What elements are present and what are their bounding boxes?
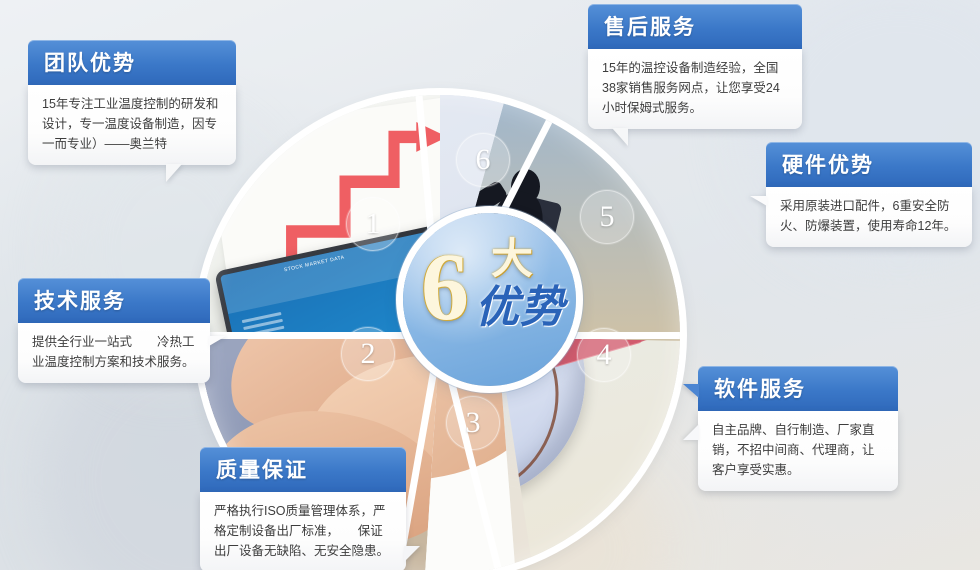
segment-number-4[interactable]: 4 (577, 328, 631, 382)
callout-title: 硬件优势 (766, 142, 972, 187)
separator-spoke (200, 332, 440, 339)
callout-after-sales-service[interactable]: 售后服务 15年的温控设备制造经验，全国38家销售服务网点，让您享受24小时保姆… (588, 4, 802, 129)
segment-number-2[interactable]: 2 (341, 327, 395, 381)
callout-tail (750, 196, 767, 218)
callout-title: 售后服务 (588, 4, 802, 49)
segment-number-5[interactable]: 5 (580, 190, 634, 244)
callout-body: 15年专注工业温度控制的研发和设计，专一温度设备制造，因专一而专业）——奥兰特 (28, 85, 236, 165)
callout-title: 团队优势 (28, 40, 236, 85)
callout-team-advantage[interactable]: 团队优势 15年专注工业温度控制的研发和设计，专一温度设备制造，因专一而专业）—… (28, 40, 236, 165)
callout-tail (683, 384, 699, 398)
callout-quality-assurance[interactable]: 质量保证 严格执行ISO质量管理体系，严格定制设备出厂标准， 保证出厂设备无缺陷… (200, 447, 406, 570)
callout-title: 质量保证 (200, 447, 406, 492)
callout-body: 提供全行业一站式 冷热工业温度控制方案和技术服务。 (18, 323, 210, 383)
segment-number-6[interactable]: 6 (456, 133, 510, 187)
callout-tail (209, 336, 226, 358)
callout-tail (166, 164, 182, 182)
center-da-character: 大 (491, 238, 533, 280)
callout-body: 自主品牌、自行制造、厂家直销，不招中间商、代理商，让客户享受实惠。 (698, 411, 898, 491)
callout-title: 软件服务 (698, 366, 898, 411)
center-advantage-text: 优势 (475, 285, 565, 331)
callout-tail (404, 546, 420, 562)
callout-title: 技术服务 (18, 278, 210, 323)
callout-tail-lower (683, 424, 699, 440)
callout-body: 采用原装进口配件，6重安全防火、防爆装置，使用寿命12年。 (766, 187, 972, 247)
infographic-canvas: STOCK MARKET DATA (0, 0, 980, 570)
callout-body: 15年的温控设备制造经验，全国38家销售服务网点，让您享受24小时保姆式服务。 (588, 49, 802, 129)
segment-number-1[interactable]: 1 (346, 197, 400, 251)
center-badge: 6 大 优势 (403, 213, 576, 386)
callout-technical-service[interactable]: 技术服务 提供全行业一站式 冷热工业温度控制方案和技术服务。 (18, 278, 210, 383)
segment-number-3[interactable]: 3 (446, 396, 500, 450)
callout-tail (612, 128, 628, 146)
center-number: 6 (421, 239, 469, 335)
callout-hardware-advantage[interactable]: 硬件优势 采用原装进口配件，6重安全防火、防爆装置，使用寿命12年。 (766, 142, 972, 247)
callout-software-service[interactable]: 软件服务 自主品牌、自行制造、厂家直销，不招中间商、代理商，让客户享受实惠。 (698, 366, 898, 491)
callout-body: 严格执行ISO质量管理体系，严格定制设备出厂标准， 保证出厂设备无缺陷、无安全隐… (200, 492, 406, 570)
